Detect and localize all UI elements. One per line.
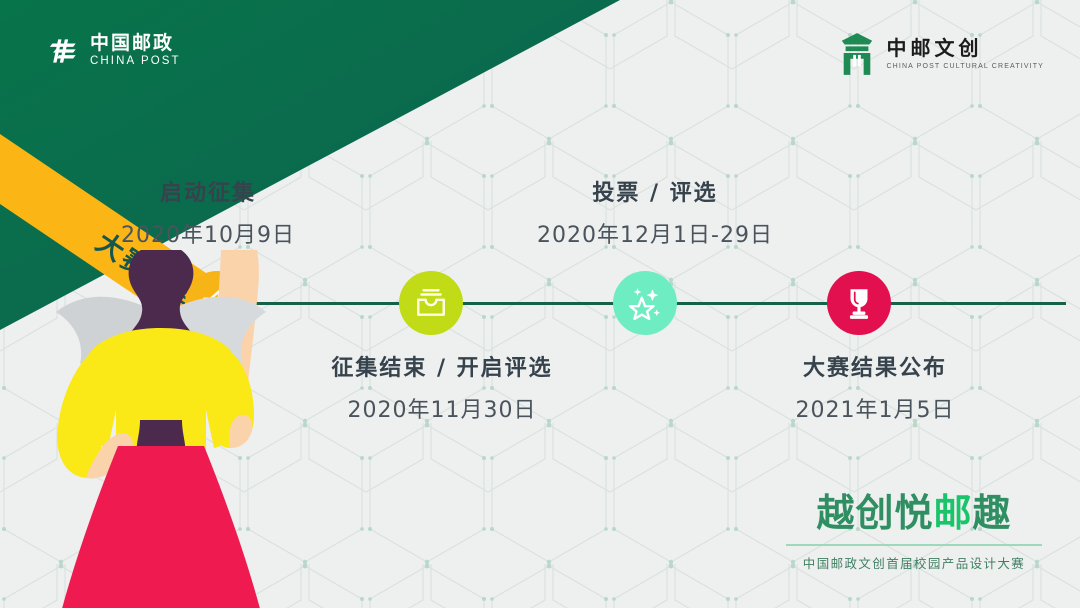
china-post-cultural-creativity-logo: 中邮文创 CHINA POST CULTURAL CREATIVITY [838, 32, 1044, 76]
timeline-label-4-title: 大赛结果公布 [725, 355, 1025, 383]
trophy-icon [842, 286, 876, 320]
timeline-label-3-title: 投票 / 评选 [490, 180, 820, 208]
slogan-part2: 趣 [973, 491, 1012, 535]
pavilion-emblem-icon [838, 32, 876, 76]
china-post-emblem-icon [47, 36, 81, 66]
timeline-label-4: 大赛结果公布 2021年1月5日 [725, 355, 1025, 424]
china-post-name-cn: 中国邮政 [90, 34, 181, 53]
timeline-label-4-date: 2021年1月5日 [725, 392, 1025, 424]
inbox-tray-icon [414, 286, 448, 320]
slogan-part1: 越创悦 [816, 491, 933, 535]
cpcc-name-en: CHINA POST CULTURAL CREATIVITY [886, 63, 1044, 70]
timeline-node-3[interactable] [613, 271, 677, 335]
star-sparkle-icon [628, 286, 662, 320]
slogan-subtitle: 中国邮政文创首届校园产品设计大赛 [780, 553, 1048, 572]
china-post-name-en: CHINA POST [90, 56, 181, 68]
slogan-wordmark: 越创悦邮趣 [780, 493, 1048, 535]
slogan-divider [786, 544, 1042, 546]
timeline-label-3: 投票 / 评选 2020年12月1日-29日 [490, 180, 820, 249]
cpcc-name-cn: 中邮文创 [886, 38, 1044, 58]
timeline-node-4[interactable] [827, 271, 891, 335]
slogan-accent-char: 邮 [933, 491, 972, 535]
timeline-poster: 中国邮政 CHINA POST 大赛时间轴 中邮文创 CHINA POST CU… [0, 0, 1080, 608]
timeline-label-1-date: 2020年10月9日 [63, 217, 353, 249]
timeline-label-1-title: 启动征集 [63, 180, 353, 208]
winged-woman-pointing-up-illustration [0, 250, 330, 608]
china-post-logo: 中国邮政 CHINA POST [47, 34, 181, 68]
timeline-label-1: 启动征集 2020年10月9日 [63, 180, 353, 249]
contest-slogan-logo: 越创悦邮趣 中国邮政文创首届校园产品设计大赛 [780, 493, 1048, 572]
timeline-node-2[interactable] [399, 271, 463, 335]
timeline-label-3-date: 2020年12月1日-29日 [490, 217, 820, 249]
